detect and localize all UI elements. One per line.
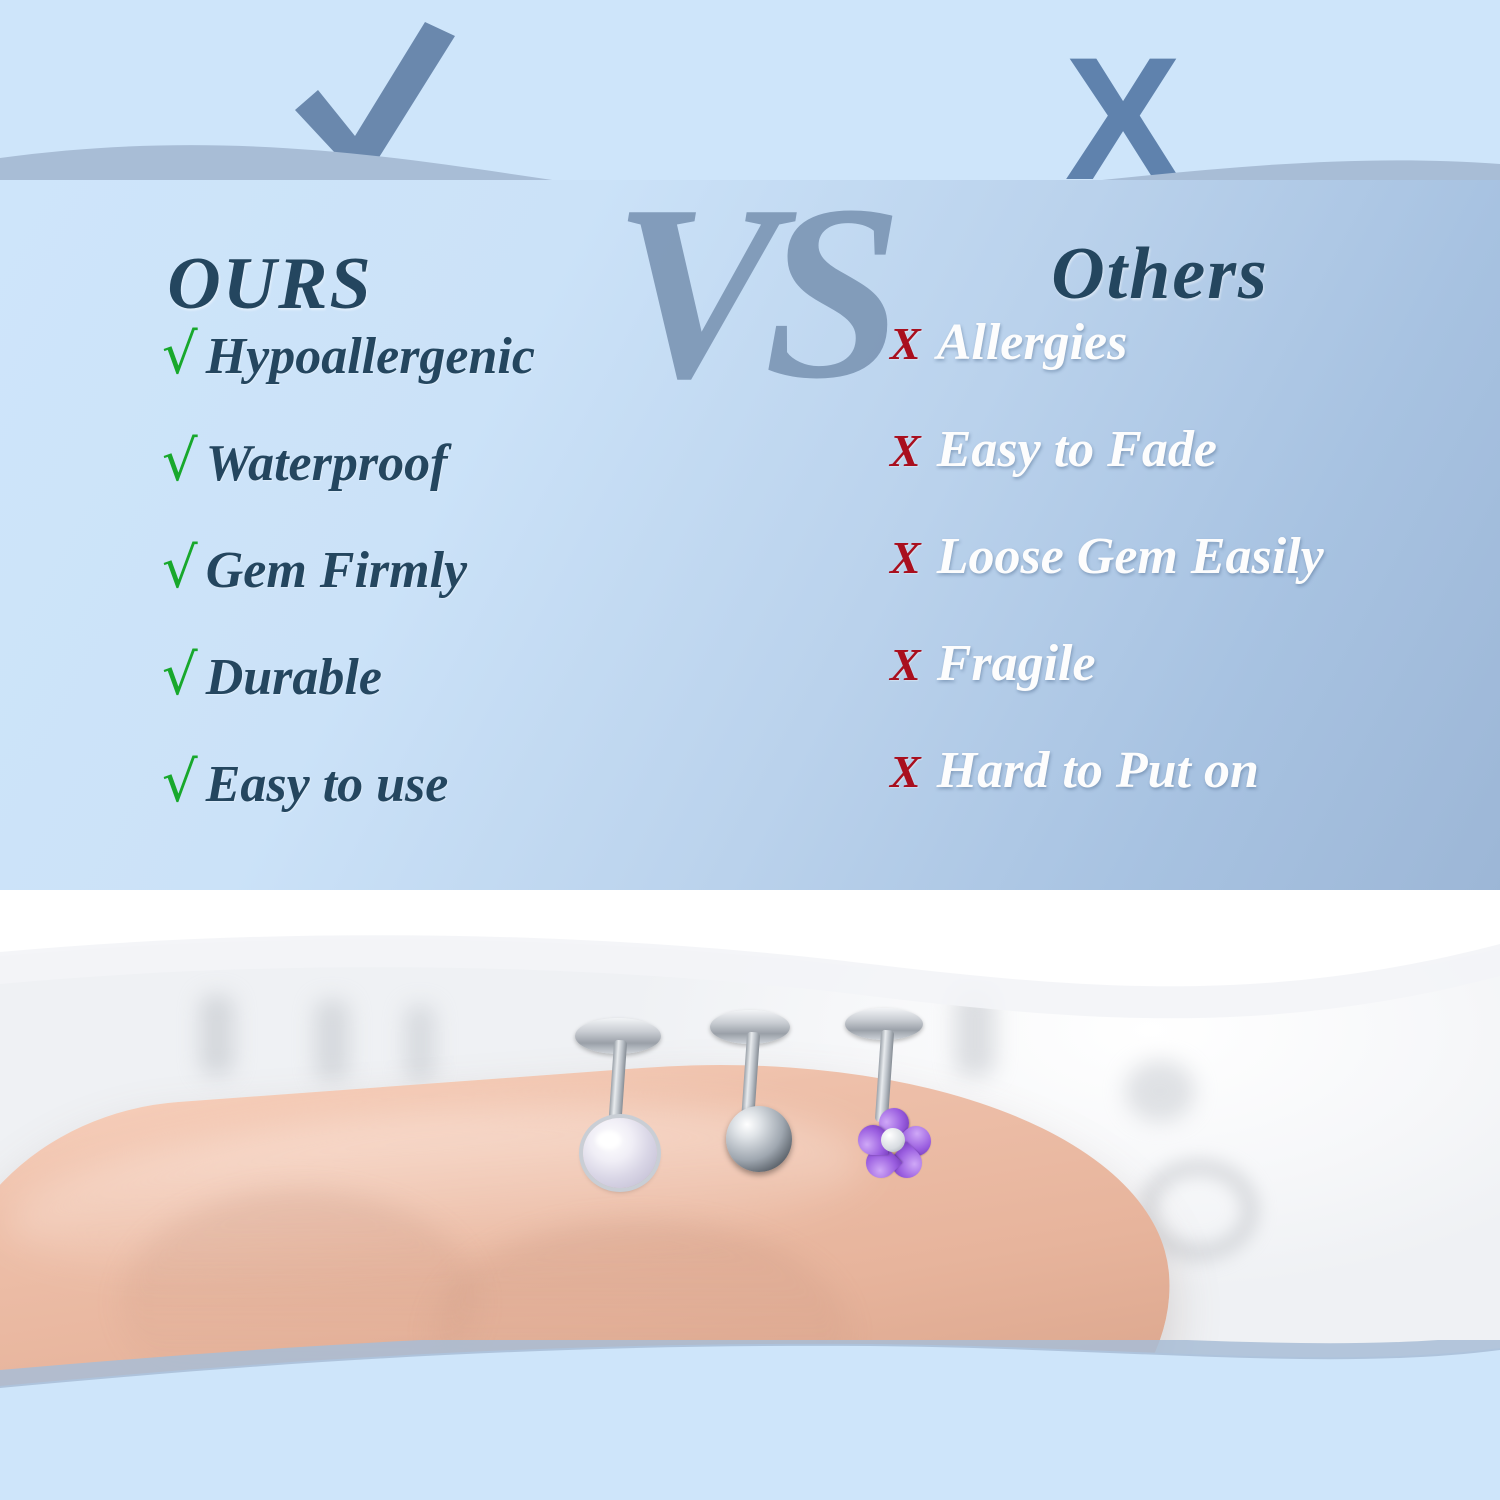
list-item-label: Easy to Fade (937, 424, 1217, 476)
cross-mark-icon: X (890, 428, 921, 474)
list-item-label: Waterproof (206, 438, 448, 490)
vs-logo: VS (600, 178, 900, 408)
list-item-label: Fragile (937, 638, 1096, 690)
flower-center (881, 1128, 905, 1152)
list-item-label: Hard to Put on (937, 745, 1259, 797)
wave-divider-photo-bottom (0, 1340, 1500, 1500)
check-mark-icon: √ (162, 541, 198, 597)
list-item-label: Easy to use (206, 759, 449, 811)
list-item: √ Gem Firmly (10, 541, 710, 648)
flower-gem (859, 1108, 929, 1174)
check-mark-icon: √ (162, 648, 198, 704)
list-item-label: Gem Firmly (206, 545, 467, 597)
cross-mark-icon: X (890, 642, 921, 688)
list-item: X Fragile (790, 638, 1490, 745)
cross-mark-icon: X (890, 749, 921, 795)
wave-divider-photo-top (0, 890, 1500, 1060)
list-item-label: Durable (206, 652, 382, 704)
cross-mark-icon: X (890, 535, 921, 581)
check-mark-icon: √ (162, 327, 198, 383)
list-item-label: Allergies (937, 317, 1128, 369)
check-mark-icon: √ (162, 755, 198, 811)
comparison-infographic: X OURS √ Hypoallergenic √ Waterproof (0, 0, 1500, 1500)
list-item: √ Waterproof (10, 434, 710, 541)
check-mark-icon: √ (162, 434, 198, 490)
list-item: X Hard to Put on (790, 745, 1490, 852)
list-item: X Loose Gem Easily (790, 531, 1490, 638)
list-item: X Easy to Fade (790, 424, 1490, 531)
blurred-stud-bg (1125, 1060, 1195, 1122)
list-item-label: Loose Gem Easily (937, 531, 1324, 583)
list-item: √ Easy to use (10, 755, 710, 862)
product-photo (0, 890, 1500, 1500)
list-item-label: Hypoallergenic (206, 331, 535, 383)
ball-bead (726, 1106, 792, 1172)
list-item: √ Durable (10, 648, 710, 755)
cz-gem (583, 1118, 657, 1188)
